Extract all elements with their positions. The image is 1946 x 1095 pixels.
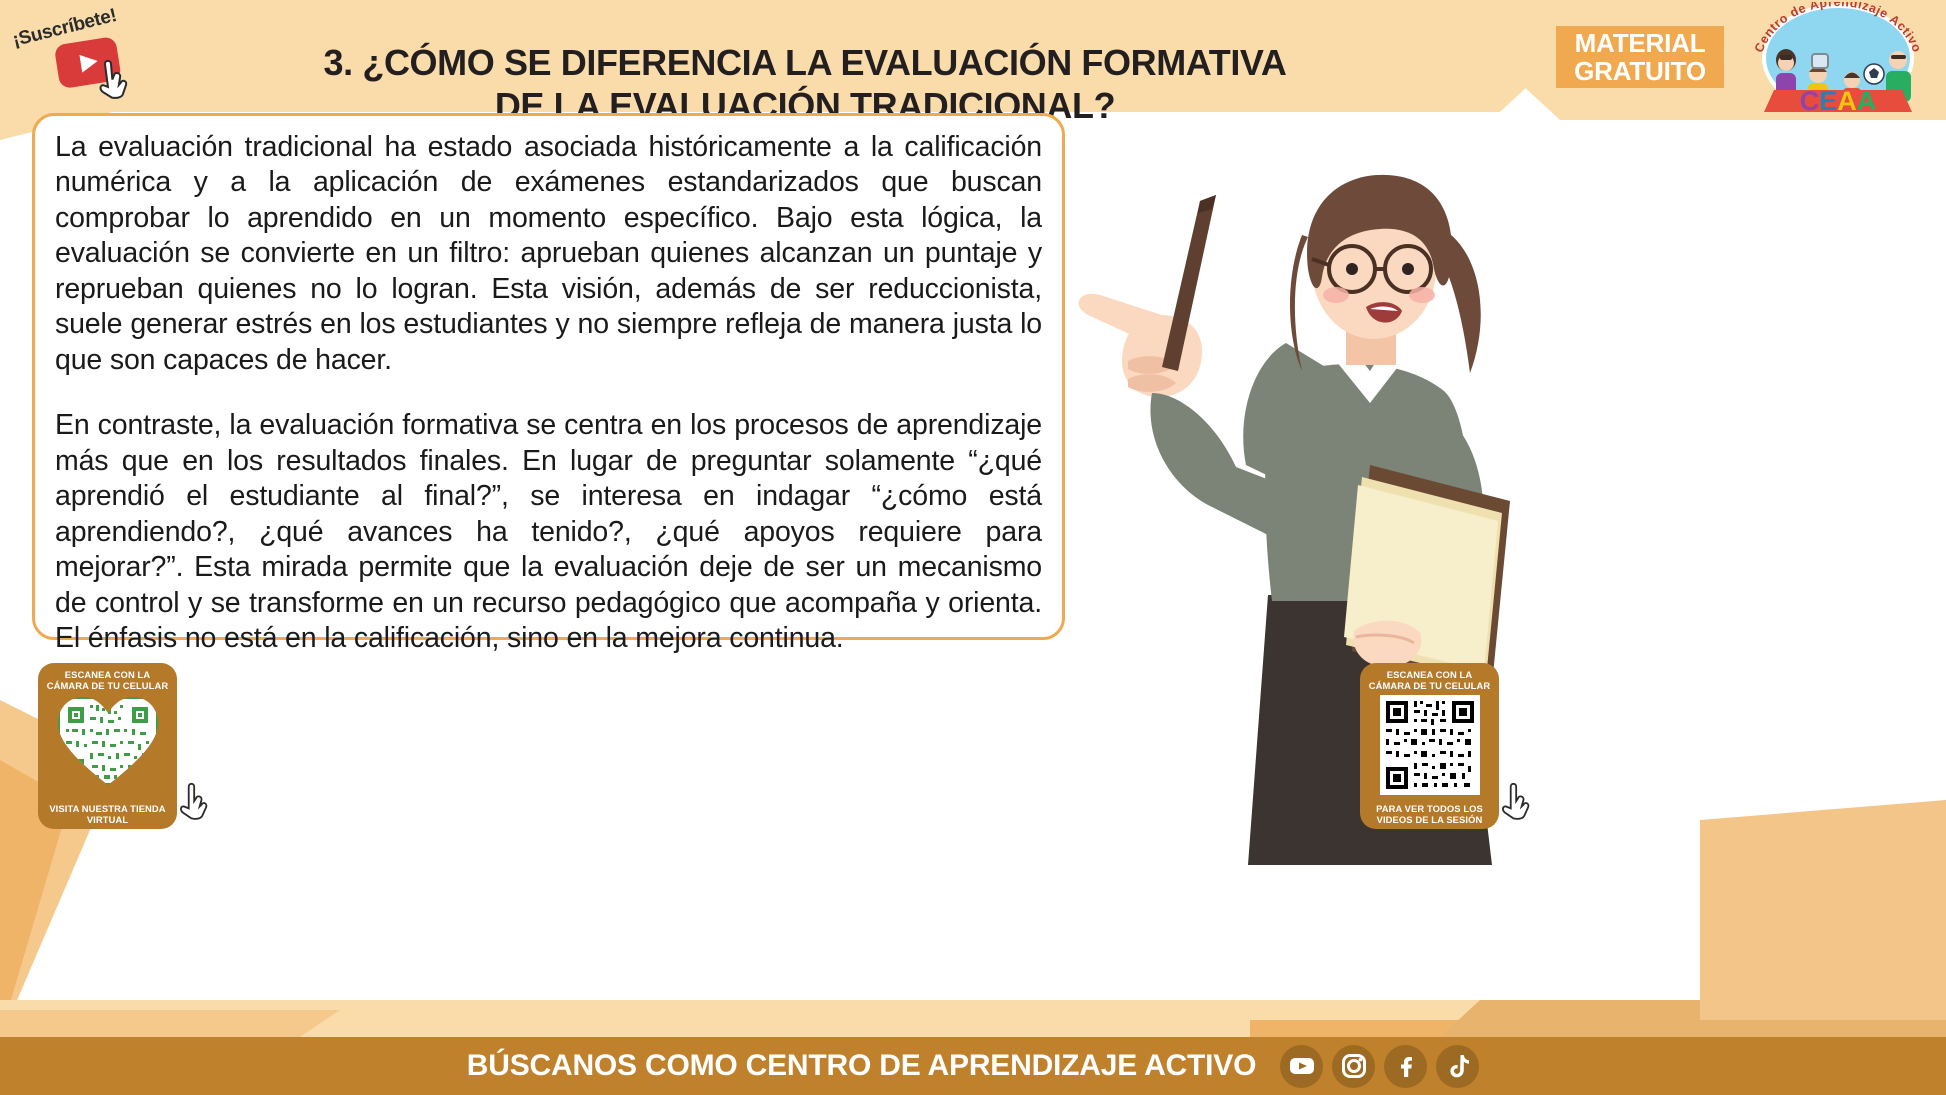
square-qr-code[interactable] [1380,695,1480,795]
pointing-hand [1079,195,1216,397]
qr-right-bottom-label: PARA VER TODOS LOS VIDEOS DE LA SESIÓN [1376,803,1483,825]
pointer-hand-icon-right [1498,782,1538,822]
slide-root: ¡Suscríbete! 3. ¿CÓMO SE DIFERENCIA LA E… [0,0,1946,1095]
youtube-icon[interactable] [1280,1045,1323,1088]
paragraph-traditional-evaluation: La evaluación tradicional ha estado asoc… [55,130,1042,378]
material-line-1: MATERIAL [1575,29,1706,57]
qr-left-bottom-label: VISITA NUESTRA TIENDA VIRTUAL [49,803,165,825]
facebook-icon[interactable] [1384,1045,1427,1088]
ceaa-logo-svg: Centro de Aprendizaje Activo [1740,2,1936,112]
ceaa-logo: Centro de Aprendizaje Activo [1740,2,1936,112]
qr-right-top-label: ESCANEA CON LA CÁMARA DE TU CELULAR [1369,669,1490,691]
logo-acronym: CEAA [1800,86,1877,112]
footer-bar: BÚSCANOS COMO CENTRO DE APRENDIZAJE ACTI… [0,1037,1946,1095]
qr-left-top-line-1: ESCANEA CON LA [47,669,168,680]
subscribe-badge[interactable]: ¡Suscríbete! [4,2,161,107]
qr-right-top-line-1: ESCANEA CON LA [1369,669,1490,680]
click-aqui-label-left[interactable]: ¡CLICK AQUÍ! [180,676,202,796]
qr-left-top-line-2: CÁMARA DE TU CELULAR [47,680,168,691]
tiktok-icon[interactable] [1436,1045,1479,1088]
instagram-icon[interactable] [1332,1045,1375,1088]
qr-left-bottom-line-2: VIRTUAL [49,814,165,825]
qr-left-top-label: ESCANEA CON LA CÁMARA DE TU CELULAR [47,669,168,691]
qr-right-bottom-line-1: PARA VER TODOS LOS [1376,803,1483,814]
title-line-1: 3. ¿CÓMO SE DIFERENCIA LA EVALUACIÓN FOR… [320,42,1290,84]
qr-right-bottom-line-2: VIDEOS DE LA SESIÓN [1376,814,1483,825]
heart-qr-code[interactable] [56,695,160,787]
paragraph-formative-evaluation: En contraste, la evaluación formativa se… [55,408,1042,656]
qr-right-top-line-2: CÁMARA DE TU CELULAR [1369,680,1490,691]
content-card: La evaluación tradicional ha estado asoc… [32,113,1065,640]
material-line-2: GRATUITO [1574,57,1706,85]
pointer-hand-icon-left [176,782,216,822]
social-row [1280,1045,1479,1088]
footer-text: BÚSCANOS COMO CENTRO DE APRENDIZAJE ACTI… [467,1049,1256,1083]
qr-card-videos[interactable]: ESCANEA CON LA CÁMARA DE TU CELULAR [1360,663,1499,829]
click-aqui-label-right[interactable]: ¡CLICK AQUÍ! [1502,676,1524,796]
pointer-hand-icon [92,55,139,101]
qr-card-store[interactable]: ESCANEA CON LA CÁMARA DE TU CELULAR [38,663,177,829]
material-gratuito-badge: MATERIAL GRATUITO [1556,26,1724,88]
qr-left-bottom-line-1: VISITA NUESTRA TIENDA [49,803,165,814]
